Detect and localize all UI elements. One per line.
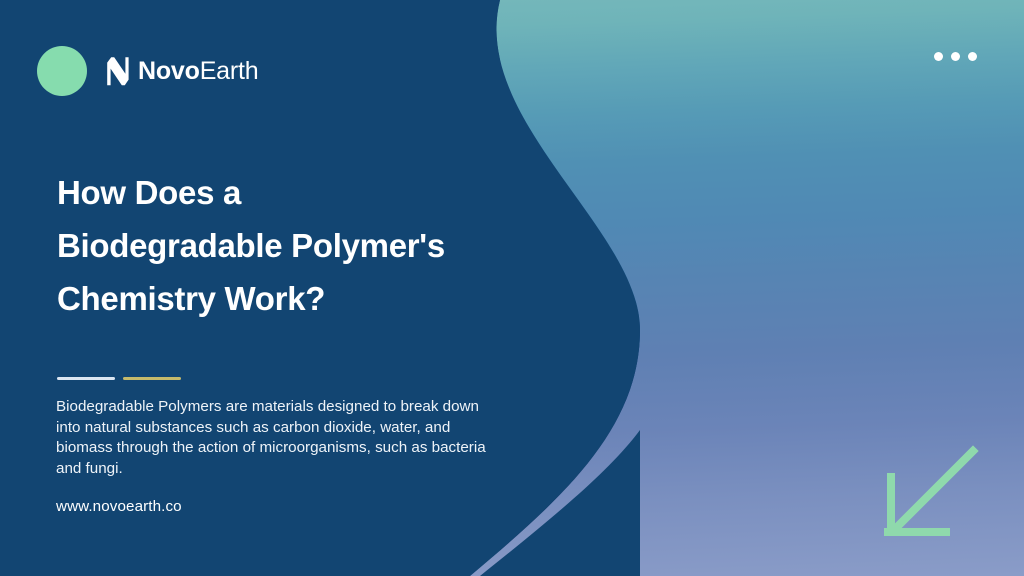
n-monogram-icon [105,56,131,86]
ellipsis-dot-1 [934,52,943,61]
headline-line-2: Biodegradable Polymer's [57,219,527,272]
brand-dot-icon [37,46,87,96]
poster-canvas: NovoEarth How Does a Biodegradable Polym… [0,0,1024,576]
brand-name-bold: Novo [138,57,200,85]
ellipsis-menu-icon[interactable] [934,52,977,61]
website-url[interactable]: www.novoearth.co [56,498,182,515]
divider-rule-gold [123,377,181,380]
ellipsis-dot-2 [951,52,960,61]
page-title: How Does a Biodegradable Polymer's Chemi… [57,166,527,325]
brand-logo[interactable]: NovoEarth [37,46,258,96]
headline-line-3: Chemistry Work? [57,272,527,325]
arrow-down-left-icon [884,444,982,542]
brand-name: NovoEarth [138,59,258,84]
headline-line-1: How Does a [57,166,527,219]
brand-lockup: NovoEarth [105,56,258,86]
content-layer: NovoEarth How Does a Biodegradable Polym… [0,0,1024,576]
divider-rules [57,377,181,380]
body-paragraph: Biodegradable Polymers are materials des… [56,397,488,479]
brand-name-light: Earth [200,57,259,85]
divider-rule-light [57,377,115,380]
ellipsis-dot-3 [968,52,977,61]
